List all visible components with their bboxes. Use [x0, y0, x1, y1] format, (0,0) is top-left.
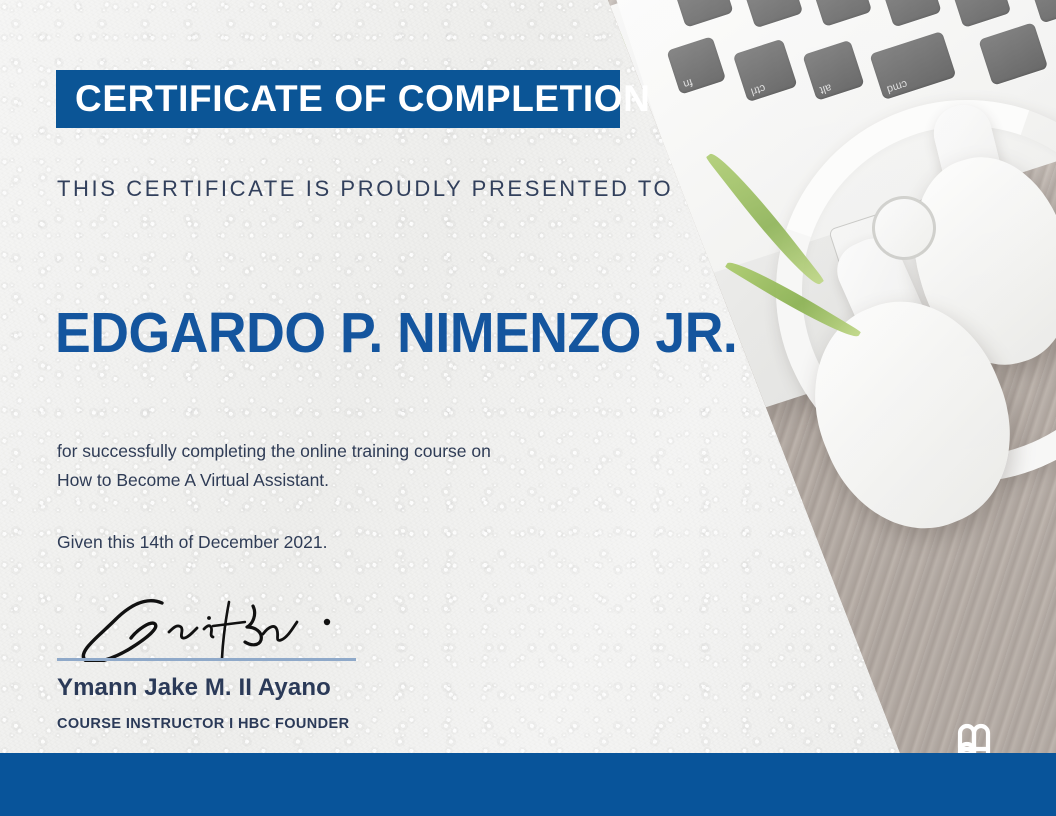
body-line-1: for successfully completing the online t… — [57, 437, 491, 466]
certificate-canvas: fn ctrl alt cmd — [0, 0, 1056, 816]
certificate-title-banner: CERTIFICATE OF COMPLETION — [56, 70, 620, 128]
page-title: CERTIFICATE OF COMPLETION — [56, 78, 650, 120]
signature-area — [57, 596, 367, 662]
certificate-subtitle: THIS CERTIFICATE IS PROUDLY PRESENTED TO — [57, 176, 673, 202]
recipient-name: EDGARDO P. NIMENZO JR. — [55, 300, 737, 366]
certificate-body: for successfully completing the online t… — [57, 437, 491, 495]
handwritten-signature-icon — [63, 596, 353, 662]
given-date: Given this 14th of December 2021. — [57, 532, 327, 553]
signature-line — [57, 658, 356, 661]
body-line-2: How to Become A Virtual Assistant. — [57, 466, 491, 495]
certificate-content: CERTIFICATE OF COMPLETION THIS CERTIFICA… — [0, 0, 1056, 816]
signer-role: COURSE INSTRUCTOR I HBC FOUNDER — [57, 716, 349, 732]
signer-name: Ymann Jake M. II Ayano — [57, 674, 331, 702]
